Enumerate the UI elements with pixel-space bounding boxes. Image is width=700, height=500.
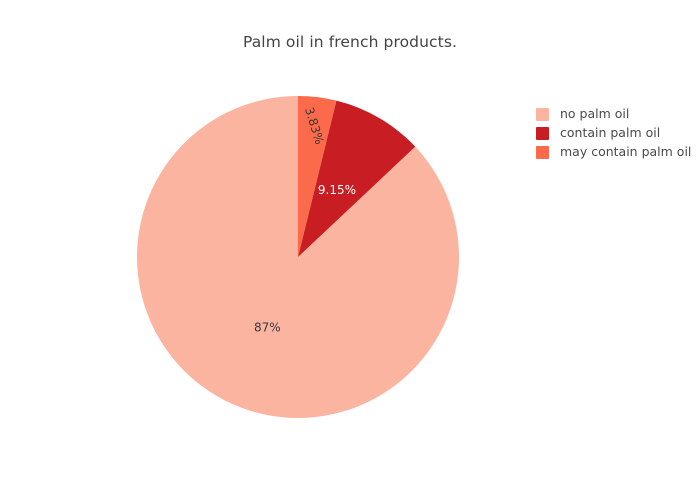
legend-item-no-palm-oil[interactable]: no palm oil xyxy=(536,105,700,124)
chart-legend: no palm oil contain palm oil may contain… xyxy=(536,105,700,162)
legend-label: may contain palm oil xyxy=(560,146,691,159)
legend-item-may-contain-palm-oil[interactable]: may contain palm oil xyxy=(536,143,700,162)
legend-swatch-icon xyxy=(536,108,549,121)
legend-swatch-icon xyxy=(536,146,549,159)
legend-item-contain-palm-oil[interactable]: contain palm oil xyxy=(536,124,700,143)
pie-chart: 87% 9.15% 3.83% xyxy=(137,96,459,418)
legend-swatch-icon xyxy=(536,127,549,140)
chart-canvas: Palm oil in french products. 87% 9.15% 3… xyxy=(0,0,700,500)
legend-label: contain palm oil xyxy=(560,127,660,140)
pie-label-contain-palm-oil: 9.15% xyxy=(318,183,356,197)
pie-label-no-palm-oil: 87% xyxy=(254,320,281,334)
pie-svg: 87% 9.15% 3.83% xyxy=(137,96,459,418)
chart-title: Palm oil in french products. xyxy=(0,33,700,51)
legend-label: no palm oil xyxy=(560,108,629,121)
pie-slices xyxy=(137,96,459,418)
